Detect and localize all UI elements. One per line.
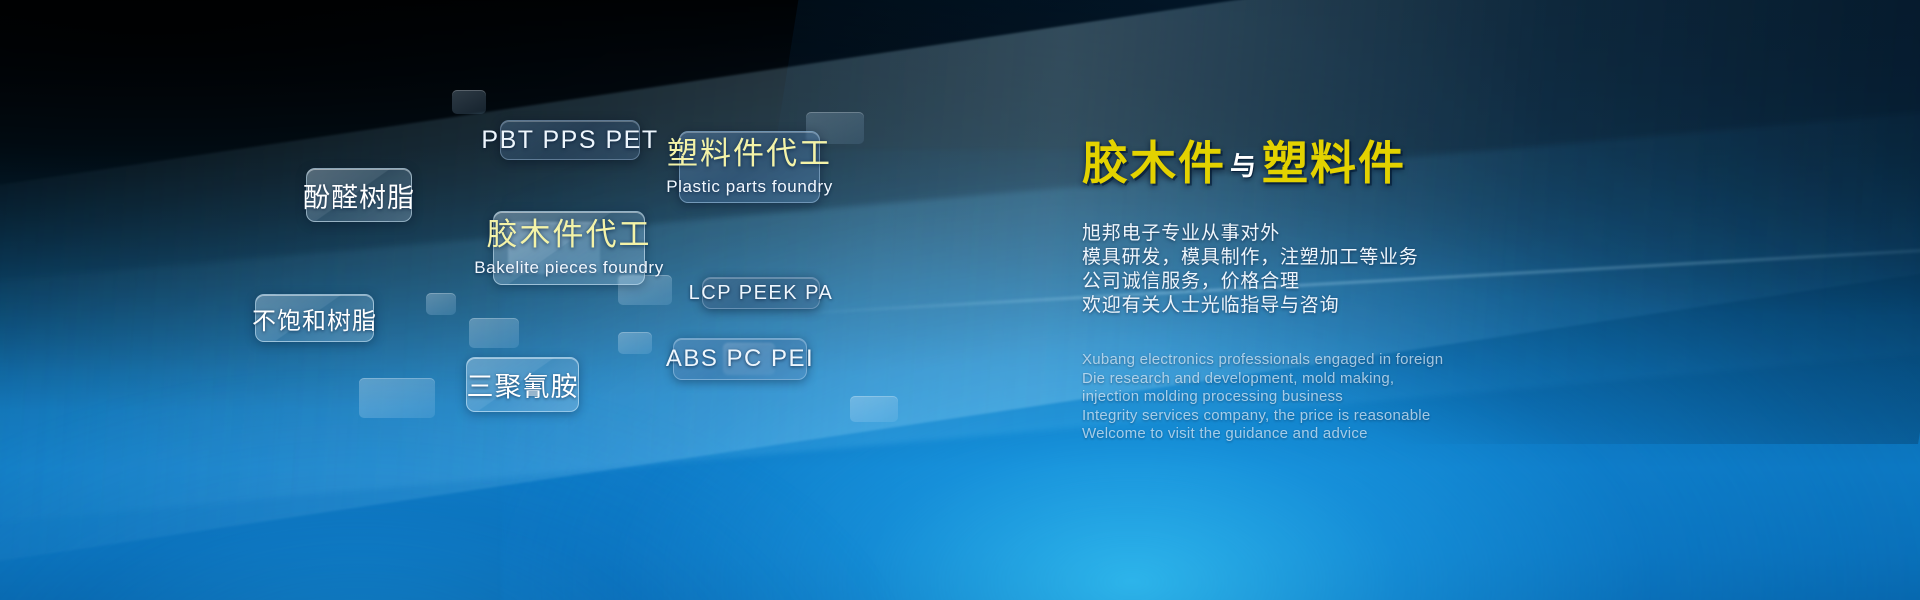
chip-label: ABS PC PEI [666, 345, 814, 373]
cn-line: 旭邦电子专业从事对外 [1082, 222, 1842, 246]
chip-bakelite-foundry[interactable]: 胶木件代工 Bakelite pieces foundry [493, 211, 645, 285]
chip-label: PBT PPS PET [481, 126, 658, 155]
chip-abs-pc-pei[interactable]: ABS PC PEI [673, 338, 807, 380]
chip-unsaturated-resin[interactable]: 不饱和树脂 [255, 294, 374, 342]
headline-conjunction: 与 [1230, 151, 1258, 181]
chip-pbt-pps-pet[interactable]: PBT PPS PET [500, 120, 640, 160]
chip-melamine[interactable]: 三聚氰胺 [466, 357, 579, 412]
chip-subtitle: Bakelite pieces foundry [474, 258, 664, 278]
chip-subtitle: Plastic parts foundry [666, 177, 833, 197]
cn-line: 欢迎有关人士光临指导与咨询 [1082, 294, 1842, 318]
decor-rect [426, 293, 456, 315]
english-description: Xubang electronics professionals engaged… [1082, 351, 1842, 444]
chip-lcp-peek-pa[interactable]: LCP PEEK PA [702, 277, 820, 309]
headline-part-2: 塑料件 [1262, 137, 1406, 189]
en-line: Xubang electronics professionals engaged… [1082, 351, 1842, 370]
decor-rect [452, 90, 486, 114]
chip-label: 酚醛树脂 [303, 176, 415, 215]
copy-block: 胶木件与塑料件 旭邦电子专业从事对外 模具研发，模具制作，注塑加工等业务 公司诚… [1082, 140, 1842, 444]
chip-label: LCP PEEK PA [689, 282, 834, 305]
chip-phenolic-resin[interactable]: 酚醛树脂 [306, 168, 412, 222]
decor-rect [469, 318, 519, 348]
chip-plastic-foundry[interactable]: 塑料件代工 Plastic parts foundry [679, 131, 820, 203]
hero-banner: PBT PPS PET 塑料件代工 Plastic parts foundry … [0, 0, 1920, 600]
chip-label: 不饱和树脂 [252, 301, 377, 336]
cn-line: 公司诚信服务，价格合理 [1082, 270, 1842, 294]
cn-line: 模具研发，模具制作，注塑加工等业务 [1082, 246, 1842, 270]
en-line: Integrity services company, the price is… [1082, 407, 1842, 426]
en-line: injection molding processing business [1082, 388, 1842, 407]
chinese-description: 旭邦电子专业从事对外 模具研发，模具制作，注塑加工等业务 公司诚信服务，价格合理… [1082, 222, 1842, 318]
chip-title: 胶木件代工 [487, 218, 652, 253]
chip-title: 塑料件代工 [667, 137, 832, 172]
decor-rect [850, 396, 898, 422]
en-line: Die research and development, mold makin… [1082, 370, 1842, 389]
decor-rect [618, 332, 652, 354]
decor-rect [359, 378, 435, 418]
page-title: 胶木件与塑料件 [1082, 140, 1842, 186]
chip-label: 三聚氰胺 [467, 365, 579, 404]
en-line: Welcome to visit the guidance and advice [1082, 425, 1842, 444]
headline-part-1: 胶木件 [1082, 137, 1226, 189]
